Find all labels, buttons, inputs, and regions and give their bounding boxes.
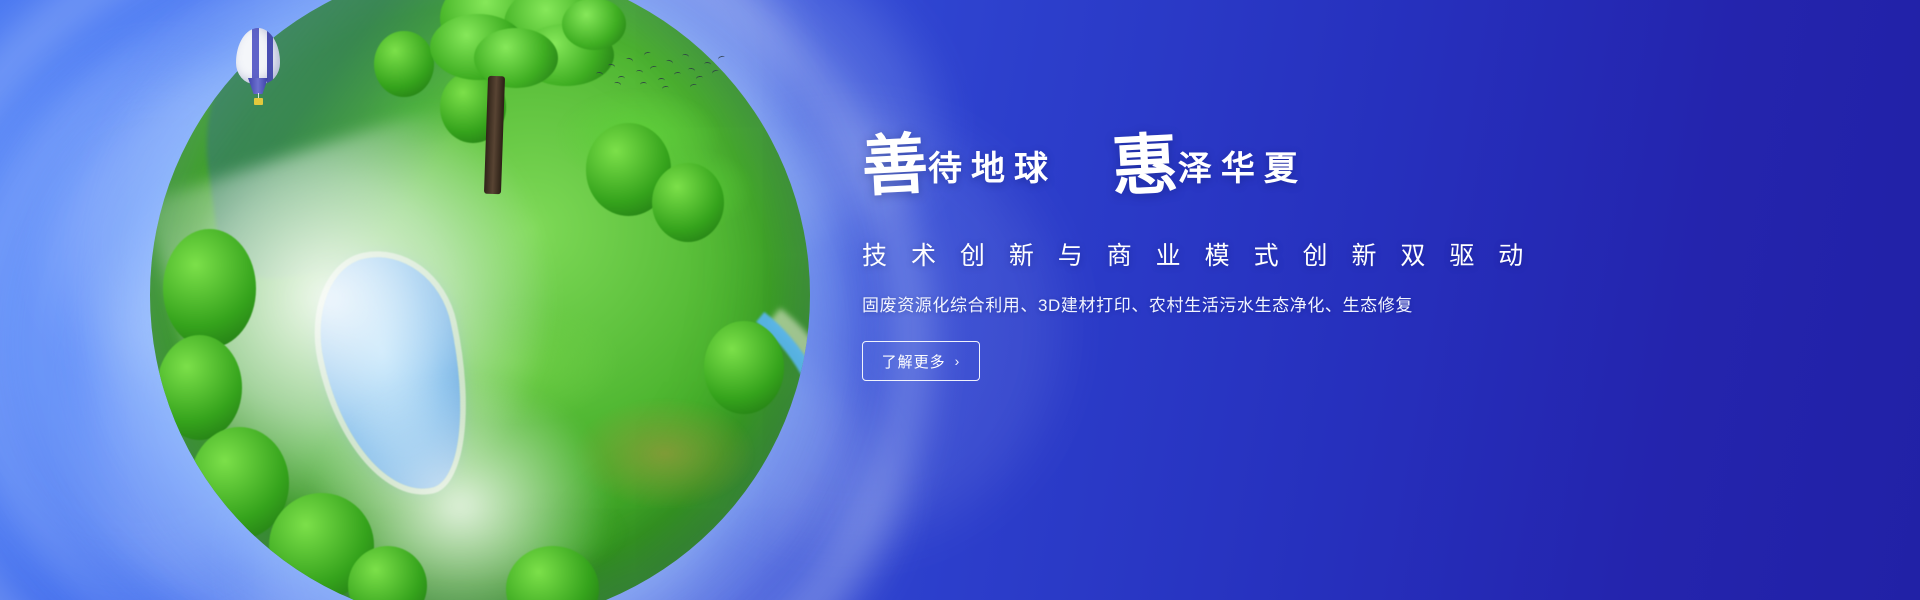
headline-phrase-1-big: 善 xyxy=(860,132,929,201)
globe-tree-clump xyxy=(374,31,433,97)
headline-phrase-1-small: 待地球 xyxy=(928,141,1057,190)
hero-banner: 善待地球 惠泽华夏 技 术 创 新 与 商 业 模 式 创 新 双 驱 动 固废… xyxy=(0,0,1920,600)
banner-description: 固废资源化综合利用、3D建材打印、农村生活污水生态净化、生态修复 xyxy=(862,291,1562,316)
headline-phrase-1: 善待地球 xyxy=(862,128,1057,194)
headline-phrase-2-small: 泽华夏 xyxy=(1178,141,1307,190)
headline-phrase-2: 惠泽华夏 xyxy=(1112,128,1307,194)
banner-subtitle: 技 术 创 新 与 商 业 模 式 创 新 双 驱 动 xyxy=(862,236,1562,272)
banner-content: 善待地球 惠泽华夏 技 术 创 新 与 商 业 模 式 创 新 双 驱 动 固废… xyxy=(862,128,1562,381)
headline: 善待地球 惠泽华夏 xyxy=(862,128,1562,214)
hot-air-balloon-icon xyxy=(236,28,280,114)
headline-phrase-2-big: 惠 xyxy=(1110,132,1179,201)
learn-more-label: 了解更多 xyxy=(882,351,946,372)
learn-more-button[interactable]: 了解更多 › xyxy=(862,341,980,381)
globe-tree-clump xyxy=(163,229,255,348)
chevron-right-icon: › xyxy=(955,354,961,368)
tree-icon xyxy=(430,0,630,190)
globe-tree-clump xyxy=(652,163,725,242)
birds-flock-icon xyxy=(592,46,722,94)
globe-tree-clump xyxy=(704,321,783,413)
globe-tree-clump xyxy=(157,335,243,441)
